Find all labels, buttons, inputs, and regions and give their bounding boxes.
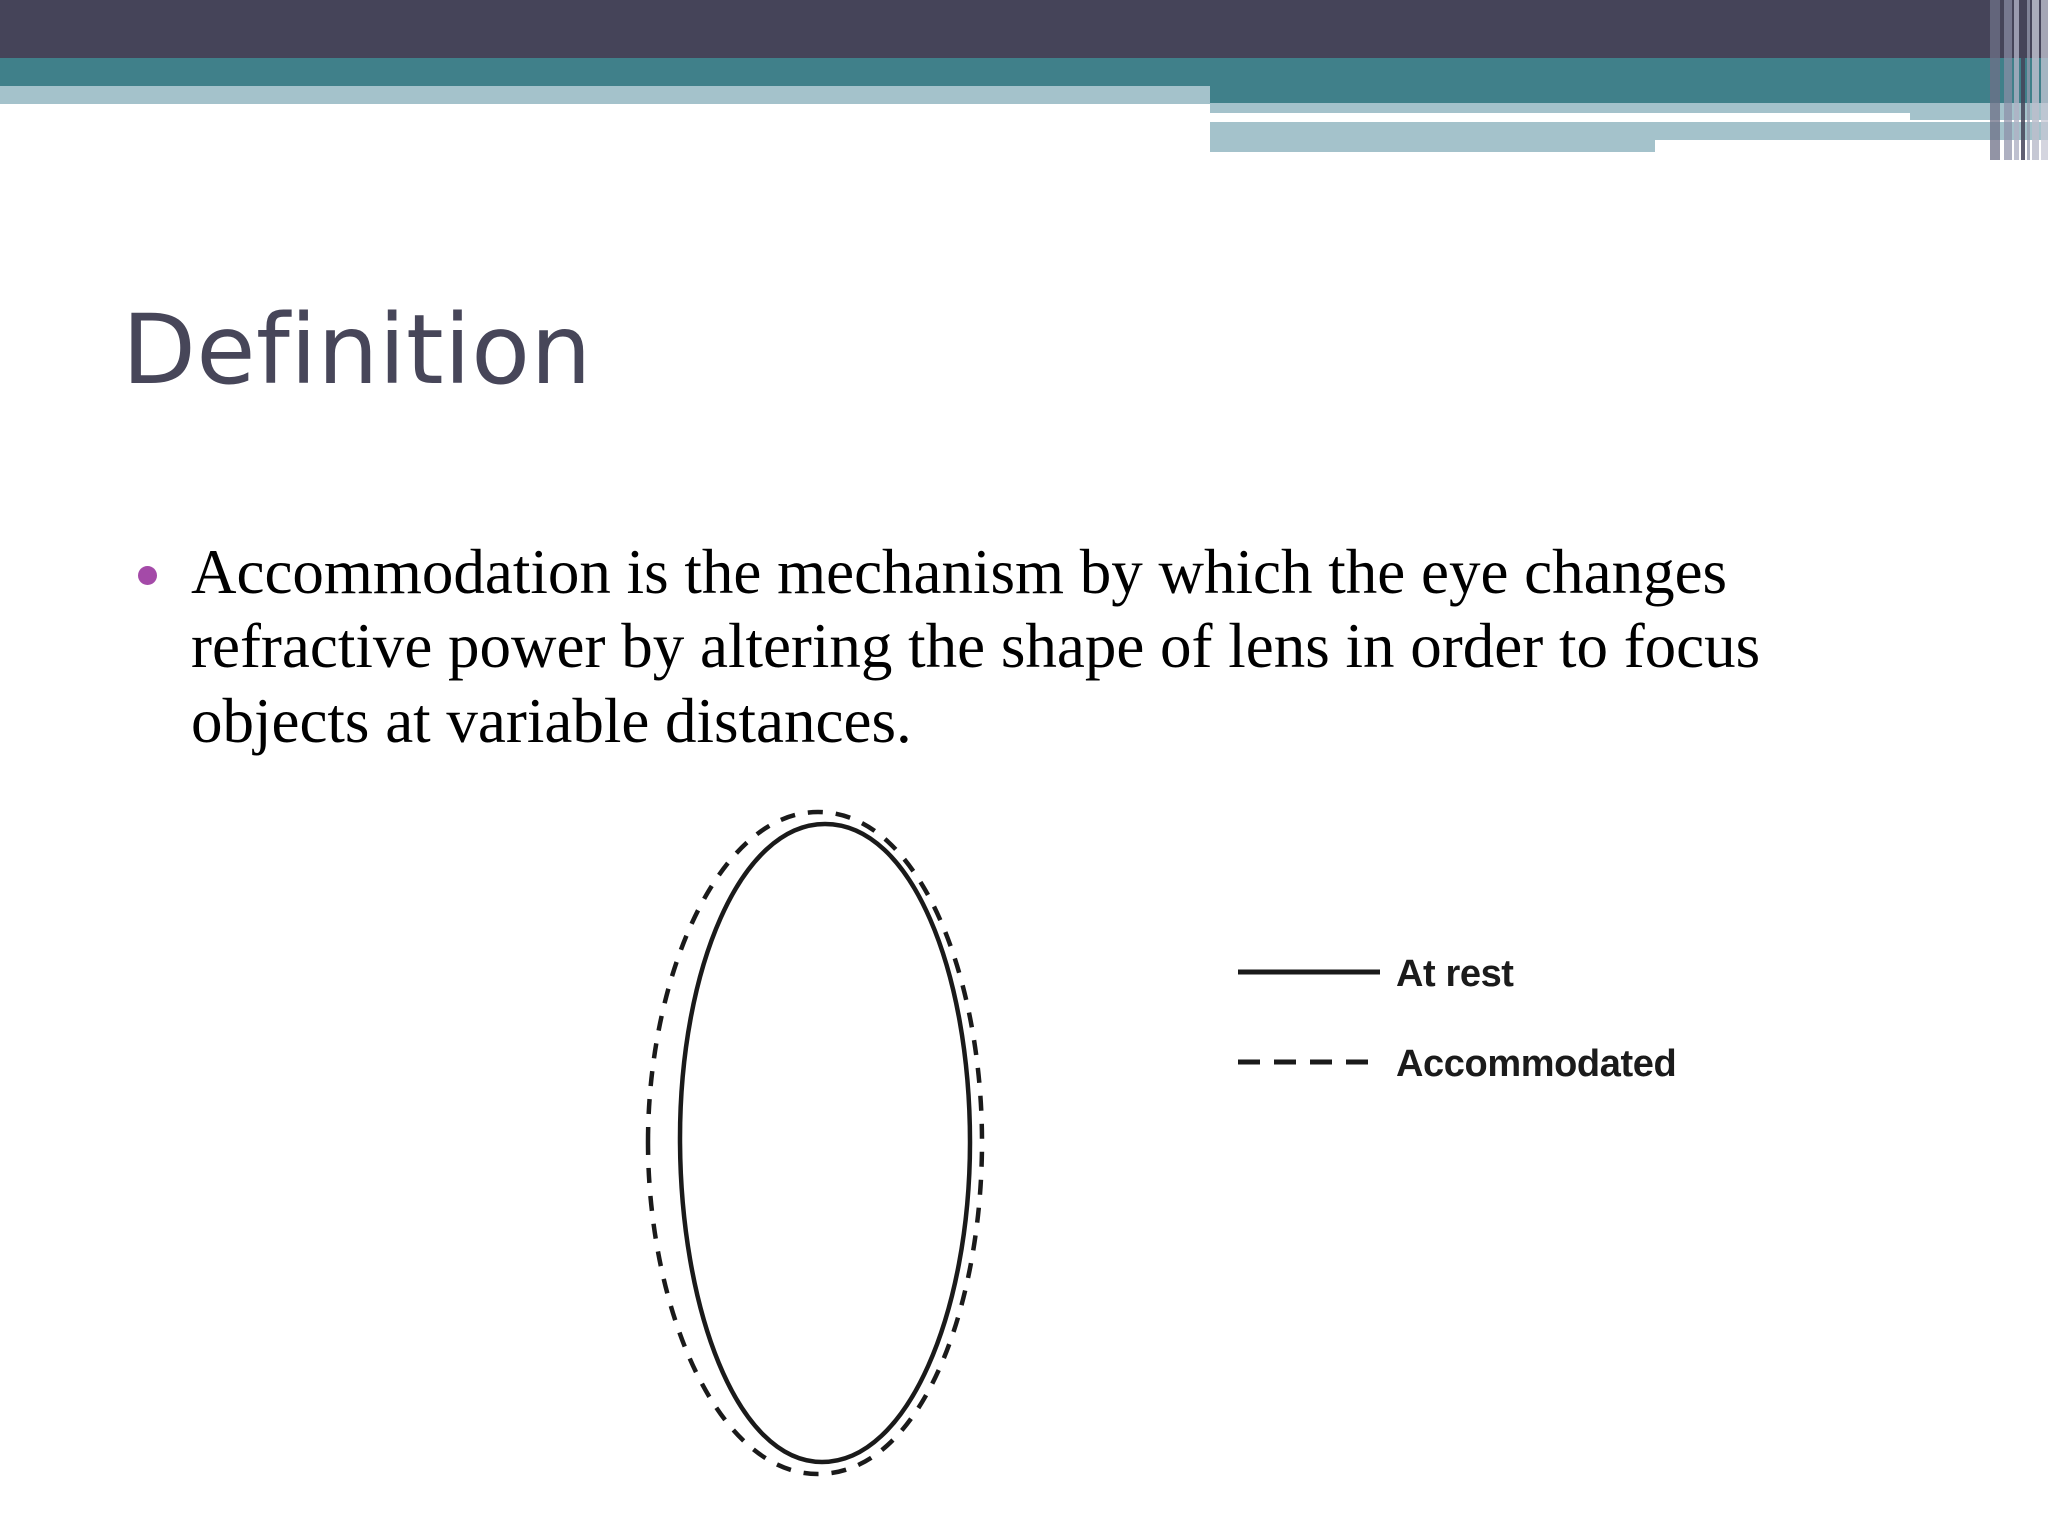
header-accent-stripe-1: [1990, 0, 2000, 160]
lens-at-rest-outline: [680, 824, 970, 1462]
header-band-pale-left: [0, 86, 1210, 104]
header-band-dark-slate: [0, 0, 2048, 58]
header-accent-stripe-2: [2004, 0, 2012, 160]
legend-label-at-rest: At rest: [1396, 953, 1514, 995]
lens-accommodated-outline: [648, 812, 982, 1474]
header-band-teal-left: [0, 58, 1210, 86]
page-title: Definition: [122, 300, 592, 401]
header-banner: [0, 0, 2048, 160]
header-accent-stripe-6: [2032, 0, 2039, 160]
header-band-white-gap: [1210, 113, 1910, 122]
header-accent-stripe-3: [2014, 0, 2019, 160]
bullet-marker-icon: [138, 566, 157, 585]
legend-item-at-rest: At rest: [1238, 953, 1514, 995]
content-body: Accommodation is the mechanism by which …: [138, 535, 1968, 758]
figure-legend: At rest Accommodated: [1238, 953, 1676, 1085]
lens-accommodation-figure: At rest Accommodated: [640, 790, 1720, 1490]
header-accent-stripe-7: [2041, 0, 2048, 160]
header-accent-stripe-4: [2021, 0, 2025, 160]
header-accent-stripe-5: [2027, 0, 2030, 160]
legend-label-accommodated: Accommodated: [1396, 1043, 1676, 1085]
bullet-text: Accommodation is the mechanism by which …: [191, 535, 1951, 758]
bullet-item: Accommodation is the mechanism by which …: [138, 535, 1968, 758]
header-band-teal-right: [1210, 58, 2048, 103]
legend-item-accommodated: Accommodated: [1238, 1043, 1676, 1085]
